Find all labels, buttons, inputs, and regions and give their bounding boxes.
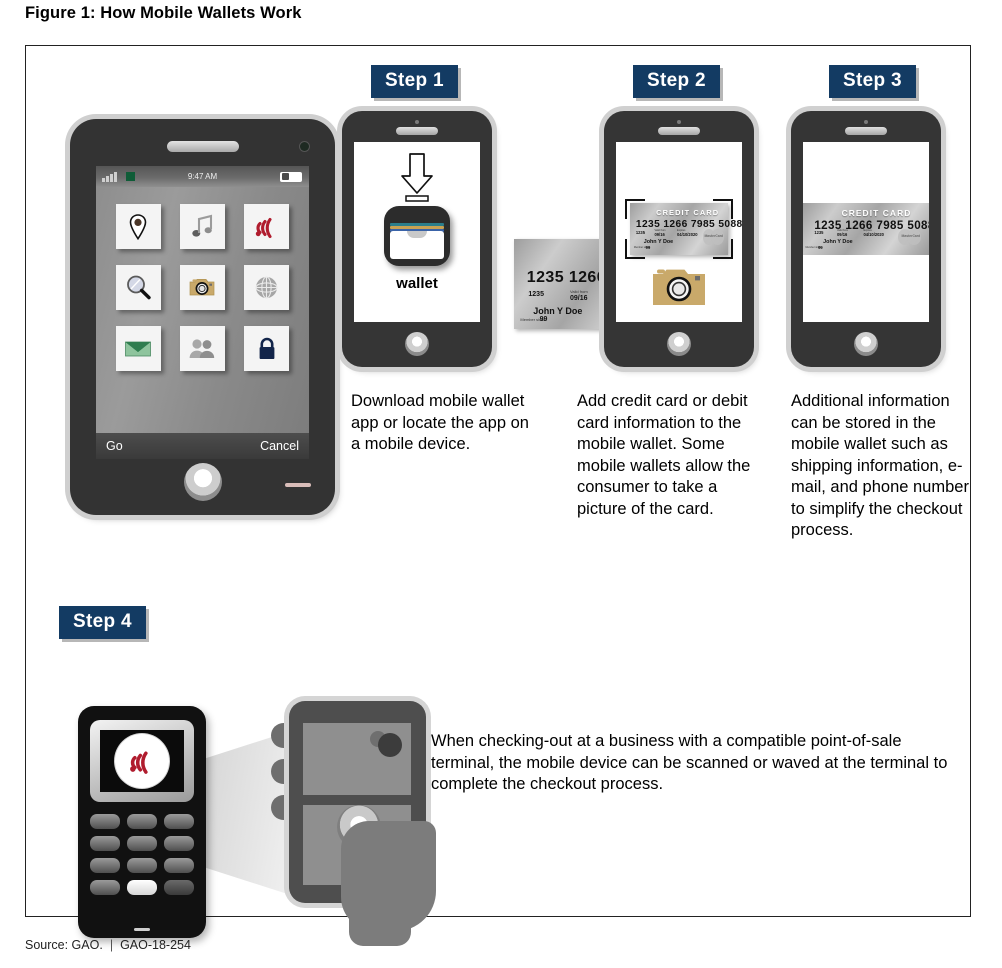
- step-2-badge: Step 2: [633, 65, 720, 98]
- keypad-key-cancel[interactable]: [164, 880, 194, 895]
- phone-speaker: [167, 141, 239, 152]
- step-3-screen: CREDIT CARD 1235 1266 7985 5088 1235 Val…: [803, 142, 929, 322]
- step-3-phone: CREDIT CARD 1235 1266 7985 5088 1235 Val…: [791, 111, 941, 367]
- card-number: 1235 1266: [527, 269, 606, 287]
- card-expires: 04/10/2020: [677, 232, 698, 237]
- keypad-key[interactable]: [90, 814, 120, 829]
- wallet-app-label: wallet: [354, 275, 480, 292]
- phone-home-button[interactable]: [405, 332, 429, 356]
- card-valid-from-label: Valid from: [570, 289, 588, 294]
- signal-bars-icon: [102, 172, 117, 182]
- keypad-key[interactable]: [127, 836, 157, 851]
- phone-home-button[interactable]: [667, 332, 691, 356]
- battery-icon: [280, 172, 302, 182]
- card-short-number: 1235: [528, 291, 544, 298]
- keypad-key[interactable]: [164, 814, 194, 829]
- keypad-key-enter[interactable]: [127, 880, 157, 895]
- card-number: 1235 1266 7985 5088: [636, 219, 742, 230]
- card-holder-name: John Y Doe: [533, 306, 582, 316]
- phone-home-button[interactable]: [854, 332, 878, 356]
- mastercard-label: MasterCard: [902, 234, 921, 238]
- stored-credit-card: CREDIT CARD 1235 1266 7985 5088 1235 Val…: [803, 203, 929, 255]
- card-member-since: 99: [540, 316, 548, 323]
- step-1-badge: Step 1: [371, 65, 458, 98]
- wallet-app-icon[interactable]: [384, 206, 450, 266]
- keypad-key[interactable]: [90, 858, 120, 873]
- step-4-badge: Step 4: [59, 606, 146, 639]
- app-grid: [96, 198, 309, 371]
- globe-icon[interactable]: [244, 265, 289, 310]
- step-2-phone: CREDIT CARD 1235 1266 7985 5088 1235 Val…: [604, 111, 754, 367]
- card-short-number: 1235: [814, 230, 823, 235]
- music-note-icon[interactable]: [180, 204, 225, 249]
- camera-icon[interactable]: [651, 264, 707, 313]
- step-2-screen: CREDIT CARD 1235 1266 7985 5088 1235 Val…: [616, 142, 742, 322]
- scanned-credit-card: CREDIT CARD 1235 1266 7985 5088 1235 Val…: [630, 203, 728, 255]
- card-valid-from: 09/16: [570, 295, 588, 302]
- step-1-screen: wallet: [354, 142, 480, 322]
- step-3-description: Additional information can be stored in …: [791, 391, 976, 542]
- hand-holding-phone-icon: [271, 701, 426, 921]
- phone-home-button[interactable]: [184, 463, 222, 501]
- phone-front-camera-icon: [300, 142, 309, 151]
- contacts-people-icon[interactable]: [180, 326, 225, 371]
- card-valid-from: 09/16: [655, 232, 665, 237]
- download-arrow-icon: [395, 152, 439, 209]
- cancel-button[interactable]: Cancel: [260, 439, 299, 453]
- mobile-device-illustration: 9:47 AM: [70, 119, 335, 515]
- step-4-description: When checking-out at a business with a c…: [431, 731, 951, 796]
- source-id: GAO-18-254: [120, 938, 191, 952]
- keypad-key[interactable]: [164, 858, 194, 873]
- terminal-foot: [134, 928, 150, 931]
- nfc-wireless-icon: [115, 734, 169, 788]
- card-title: CREDIT CARD: [842, 208, 912, 218]
- source-label: Source: GAO.: [25, 938, 103, 952]
- wrist: [349, 886, 411, 946]
- keypad-key[interactable]: [90, 836, 120, 851]
- source-separator: |: [103, 938, 120, 952]
- keypad-key[interactable]: [127, 858, 157, 873]
- device-lens: [378, 733, 402, 757]
- keypad-key[interactable]: [90, 880, 120, 895]
- lock-icon[interactable]: [244, 326, 289, 371]
- maps-pin-icon[interactable]: [116, 204, 161, 249]
- phone-action-bar: Go Cancel: [96, 433, 309, 459]
- card-expires: 04/10/2020: [863, 232, 884, 237]
- phone-front-camera-icon: [415, 120, 419, 124]
- go-button[interactable]: Go: [106, 439, 123, 453]
- envelope-mail-icon[interactable]: [116, 326, 161, 371]
- status-bar: 9:47 AM: [96, 166, 309, 187]
- phone-front-camera-icon: [864, 120, 868, 124]
- card-valid-from: 09/16: [837, 232, 847, 237]
- nfc-wireless-icon[interactable]: [244, 204, 289, 249]
- phone-bottom-dash: [285, 483, 311, 487]
- camera-icon[interactable]: [180, 265, 225, 310]
- phone-screen: 9:47 AM: [96, 166, 309, 459]
- step-2-description: Add credit card or debit card informatio…: [577, 391, 767, 520]
- source-note: Source: GAO.|GAO-18-254: [25, 938, 191, 952]
- card-member-since: 99: [818, 245, 823, 250]
- phone-speaker: [396, 127, 438, 135]
- terminal-keypad[interactable]: [90, 814, 194, 895]
- card-title: CREDIT CARD: [656, 208, 719, 217]
- pos-terminal-icon: [78, 706, 206, 938]
- keypad-key[interactable]: [127, 814, 157, 829]
- keypad-key[interactable]: [164, 836, 194, 851]
- phone-speaker: [845, 127, 887, 135]
- step-1-phone: wallet: [342, 111, 492, 367]
- phone-speaker: [658, 127, 700, 135]
- phone-front-camera-icon: [677, 120, 681, 124]
- card-holder-name: John Y Doe: [823, 239, 852, 245]
- step-3-badge: Step 3: [829, 65, 916, 98]
- mastercard-label: MasterCard: [704, 234, 723, 238]
- status-time: 9:47 AM: [188, 172, 217, 181]
- card-member-since: 99: [646, 245, 651, 250]
- card-short-number: 1235: [636, 230, 645, 235]
- step-1-description: Download mobile wallet app or locate the…: [351, 391, 531, 456]
- green-square-icon: [126, 172, 135, 181]
- search-magnifier-icon[interactable]: [116, 265, 161, 310]
- page-title: Figure 1: How Mobile Wallets Work: [25, 4, 302, 23]
- figure-container: 9:47 AM: [25, 45, 971, 917]
